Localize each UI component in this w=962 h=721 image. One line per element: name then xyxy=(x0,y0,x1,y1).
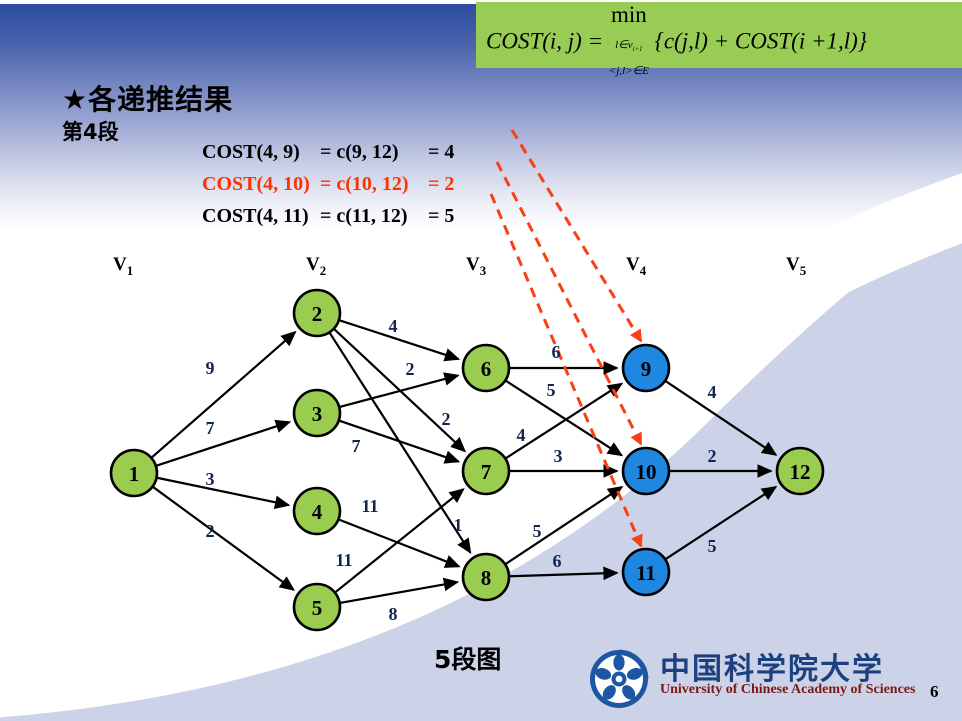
edge-weight-1-5: 2 xyxy=(206,521,215,541)
edge-weight-1-3: 7 xyxy=(206,418,215,438)
page-number: 6 xyxy=(930,682,939,702)
edge-weight-1-2: 9 xyxy=(206,358,215,378)
edge-weight-2-8: 1 xyxy=(454,515,463,535)
node-label-9: 9 xyxy=(641,357,652,381)
node-label-10: 10 xyxy=(636,460,657,484)
graph-node-9[interactable]: 9 xyxy=(623,345,669,391)
edge-weight-8-11: 6 xyxy=(553,551,562,571)
edge-9-to-12 xyxy=(666,381,776,455)
node-label-1: 1 xyxy=(129,462,140,486)
node-label-6: 6 xyxy=(481,357,492,381)
edge-weight-10-12: 2 xyxy=(708,446,717,466)
edge-5-to-8 xyxy=(341,582,458,603)
edge-weight-7-10: 3 xyxy=(554,446,563,466)
edge-8-to-10 xyxy=(506,487,622,564)
edge-weight-5-8: 8 xyxy=(389,604,398,624)
edge-weight-9-12: 4 xyxy=(708,382,717,402)
edge-8-to-11 xyxy=(510,573,617,576)
graph-node-11[interactable]: 11 xyxy=(623,549,669,595)
edge-1-to-3 xyxy=(157,422,290,465)
edge-7-to-9 xyxy=(506,384,621,458)
edge-weight-1-4: 3 xyxy=(206,469,215,489)
edge-weight-8-10: 5 xyxy=(533,521,542,541)
graph-node-1[interactable]: 1 xyxy=(111,450,157,496)
edge-3-to-6 xyxy=(340,375,458,406)
logo-english-name: University of Chinese Academy of Science… xyxy=(660,682,915,698)
edge-weight-6-10: 5 xyxy=(547,380,556,400)
edge-weight-3-7: 7 xyxy=(352,436,361,456)
edge-weight-3-6: 2 xyxy=(406,359,415,379)
cost-4-11-pointer xyxy=(491,194,641,546)
graph-node-3[interactable]: 3 xyxy=(294,390,340,436)
edge-weight-2-7: 2 xyxy=(442,409,451,429)
edge-1-to-4 xyxy=(157,478,288,505)
edge-weight-7-9: 4 xyxy=(517,425,526,445)
graph-node-4[interactable]: 4 xyxy=(294,488,340,534)
edge-weight-11-12: 5 xyxy=(708,536,717,556)
graph-node-2[interactable]: 2 xyxy=(294,290,340,336)
edge-weight-5-7: 11 xyxy=(335,550,352,570)
edge-4-to-8 xyxy=(339,520,459,567)
edge-5-to-7 xyxy=(336,489,464,592)
edge-weight-4-8: 11 xyxy=(361,496,378,516)
node-label-4: 4 xyxy=(312,500,323,524)
figure-caption: 5段图 xyxy=(434,640,501,676)
graph-node-10[interactable]: 10 xyxy=(623,448,669,494)
edge-11-to-12 xyxy=(666,487,776,559)
node-label-12: 12 xyxy=(790,460,811,484)
slide: COST(i, j) = minl∈vi+1<j,l>∈E {c(j,l) + … xyxy=(0,0,962,721)
annotation-pointers-layer xyxy=(491,130,641,546)
graph-node-7[interactable]: 7 xyxy=(463,448,509,494)
cost-4-10-pointer xyxy=(497,162,641,444)
graph-node-6[interactable]: 6 xyxy=(463,345,509,391)
multistage-graph: 123456789101112 97324212711118654356425 xyxy=(0,0,962,721)
edge-weight-2-6: 4 xyxy=(389,316,398,336)
node-label-8: 8 xyxy=(481,566,492,590)
graph-node-12[interactable]: 12 xyxy=(777,448,823,494)
node-label-3: 3 xyxy=(312,402,323,426)
node-label-5: 5 xyxy=(312,596,323,620)
edge-2-to-6 xyxy=(340,320,459,359)
edge-weight-6-9: 6 xyxy=(552,342,561,362)
graph-node-5[interactable]: 5 xyxy=(294,584,340,630)
node-label-11: 11 xyxy=(636,561,656,585)
node-label-2: 2 xyxy=(312,302,323,326)
university-logo: 中国科学院大学 University of Chinese Academy of… xyxy=(588,648,898,710)
ucas-emblem-icon xyxy=(588,648,650,710)
edge-1-to-2 xyxy=(152,332,295,457)
cost-4-9-pointer xyxy=(512,130,641,341)
graph-node-8[interactable]: 8 xyxy=(463,554,509,600)
node-label-7: 7 xyxy=(481,460,492,484)
